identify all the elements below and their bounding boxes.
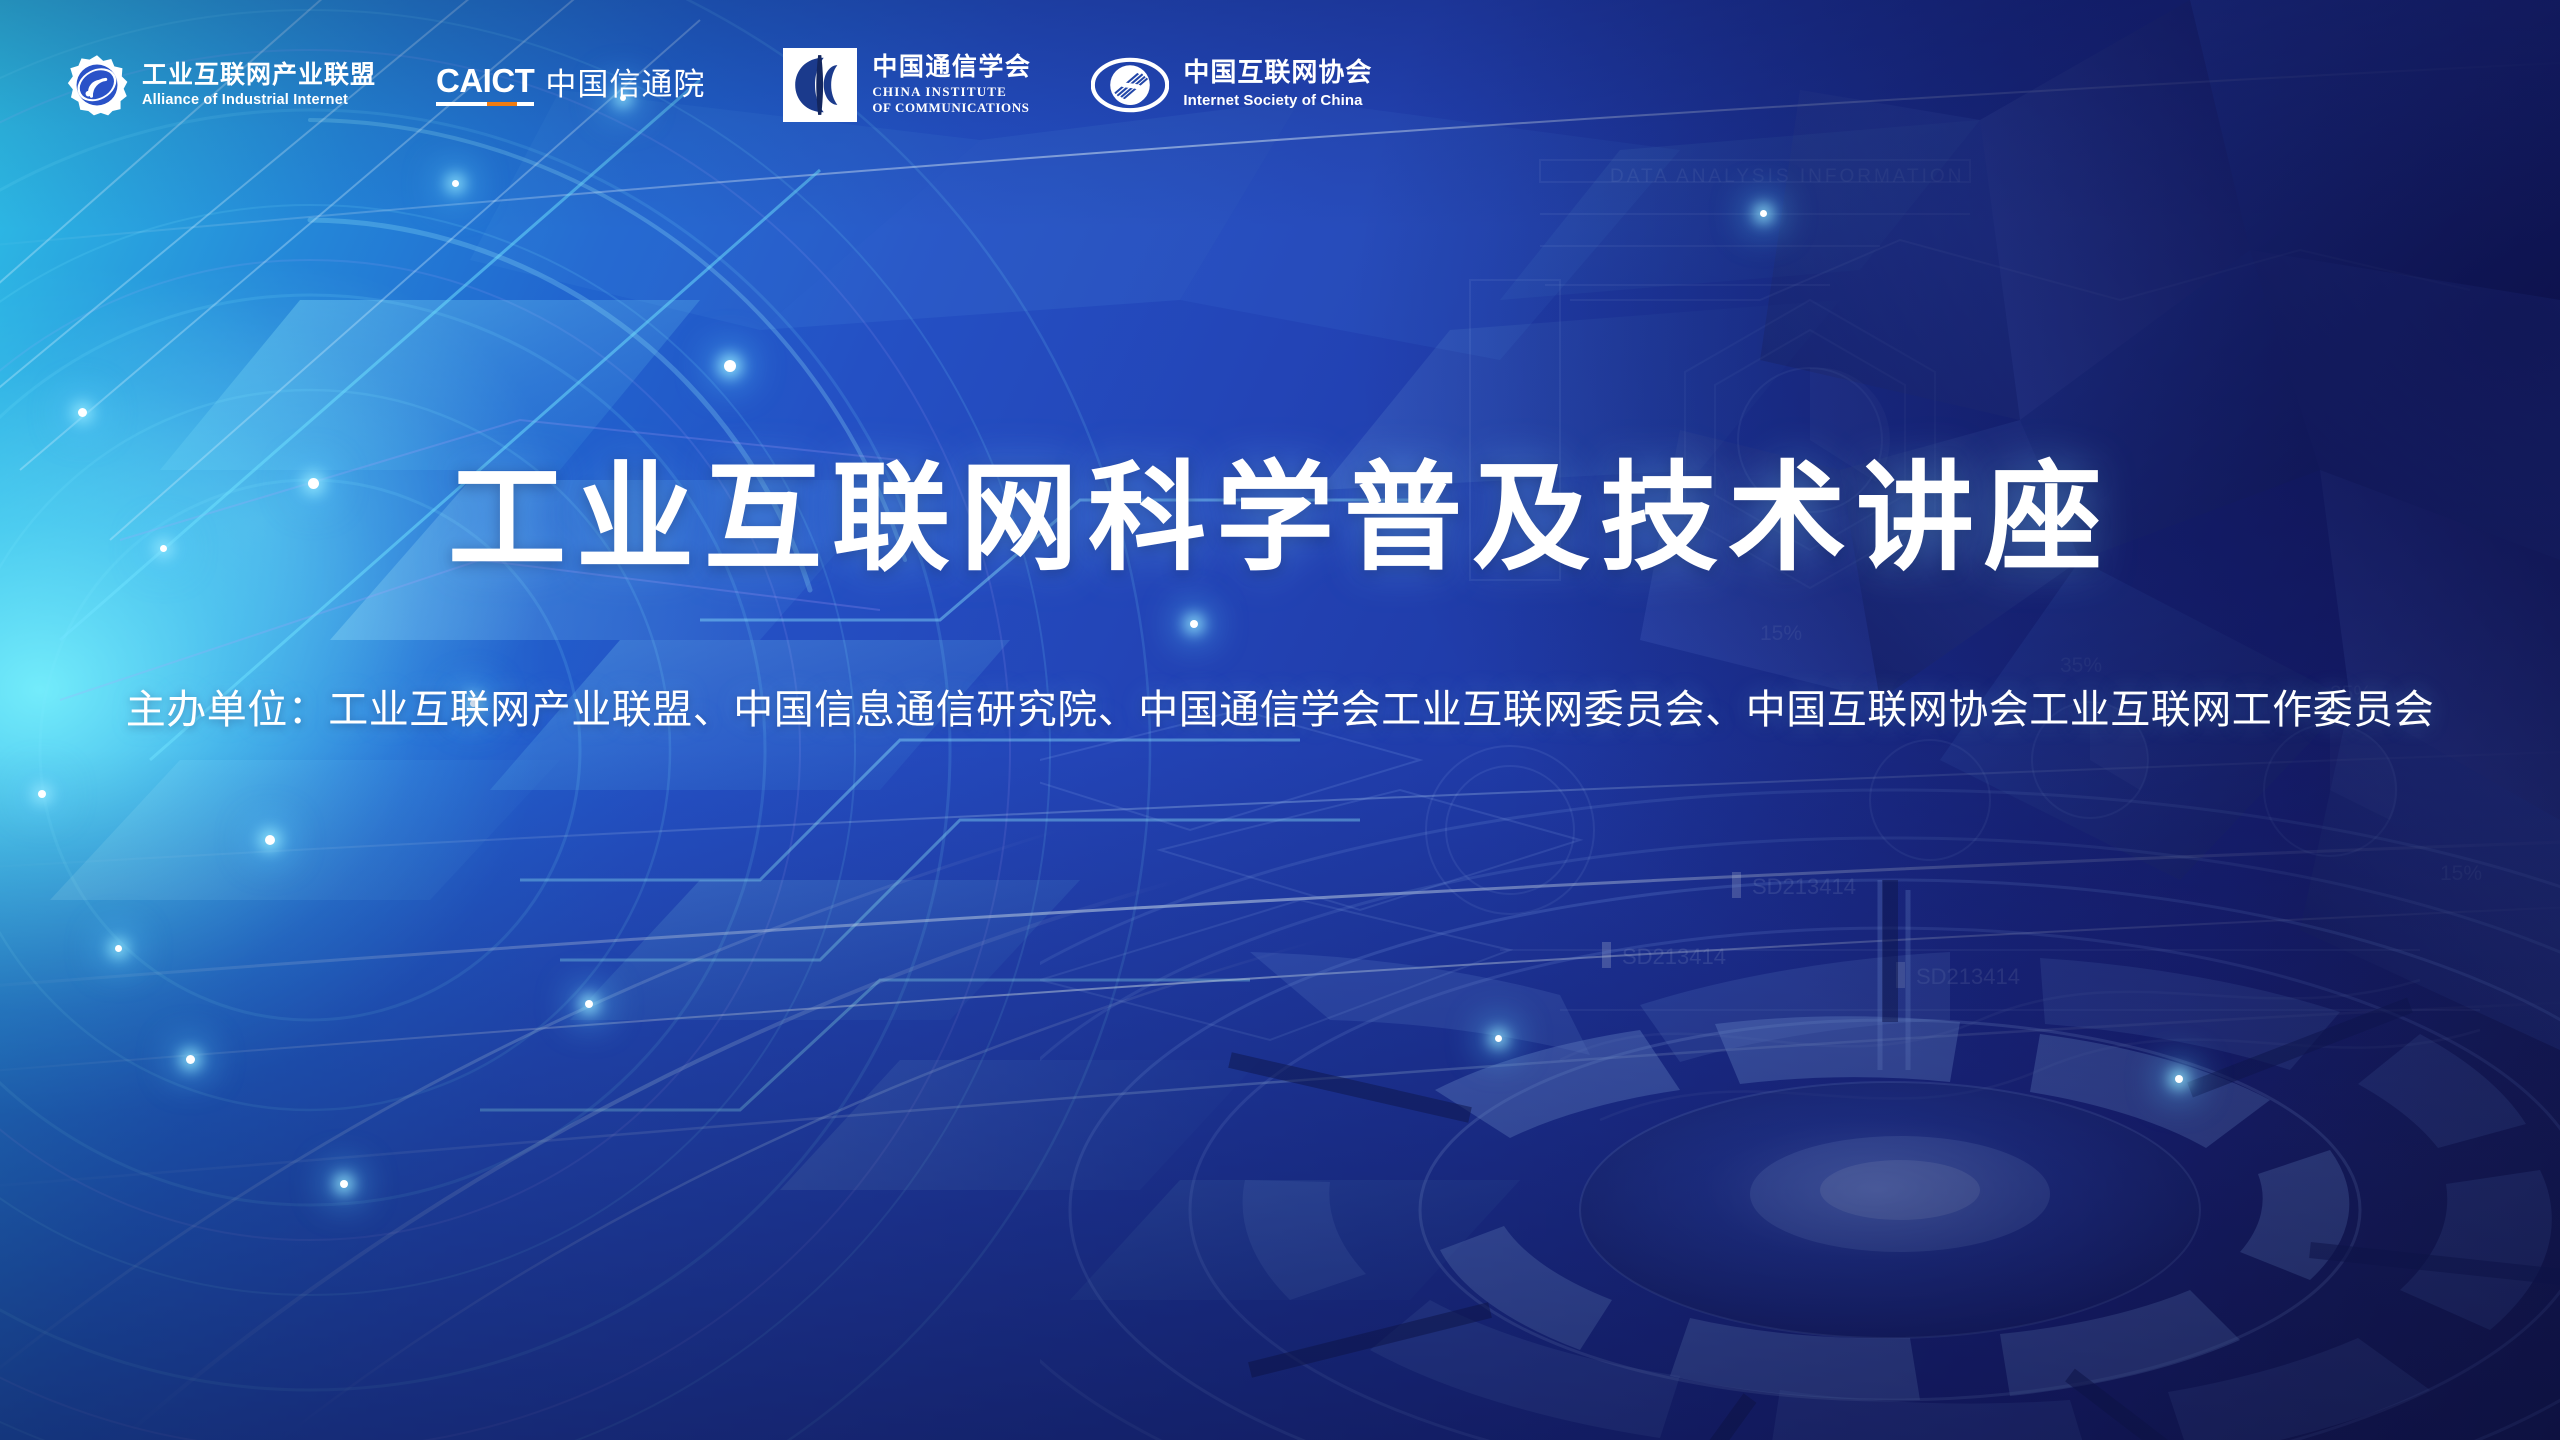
logo-caict: CAICT 中国信通院 [436,64,705,106]
poster-title: 工业互联网科学普及技术讲座 [0,452,2560,584]
poster-canvas: DATA ANALYSIS INFORMATION 15% 35% 25% 15… [0,0,2560,1440]
logo-ail-cn-name: 工业互联网产业联盟 [142,61,376,88]
cic-emblem-icon [783,48,857,122]
logo-internet-society-of-china: 中国互联网协会 Internet Society of China [1091,54,1372,116]
gear-wifi-icon [66,54,128,116]
logo-isc-en-name: Internet Society of China [1183,91,1372,111]
caict-accent-rule [436,102,534,106]
logo-cic-en-line1: CHINA INSTITUTE [872,83,1031,101]
logo-cic-cn-name: 中国通信学会 [872,53,1031,81]
isc-emblem-icon [1091,54,1169,116]
sponsor-logo-bar: 工业互联网产业联盟 Alliance of Industrial Interne… [0,48,2560,122]
logo-isc-cn-name: 中国互联网协会 [1183,59,1372,88]
poster-subtitle-organizers: 主办单位：工业互联网产业联盟、中国信息通信研究院、中国通信学会工业互联网委员会、… [0,684,2560,736]
logo-alliance-of-industrial-internet: 工业互联网产业联盟 Alliance of Industrial Interne… [66,54,376,116]
logo-caict-wordmark: CAICT [436,64,534,97]
logo-china-institute-of-communications: 中国通信学会 CHINA INSTITUTE OF COMMUNICATIONS [783,48,1031,122]
logo-caict-cn-name: 中国信通院 [545,69,705,106]
logo-ail-en-name: Alliance of Industrial Internet [142,91,376,109]
logo-cic-en-line2: OF COMMUNICATIONS [872,100,1031,117]
caict-wordmark-icon: CAICT [436,64,534,106]
